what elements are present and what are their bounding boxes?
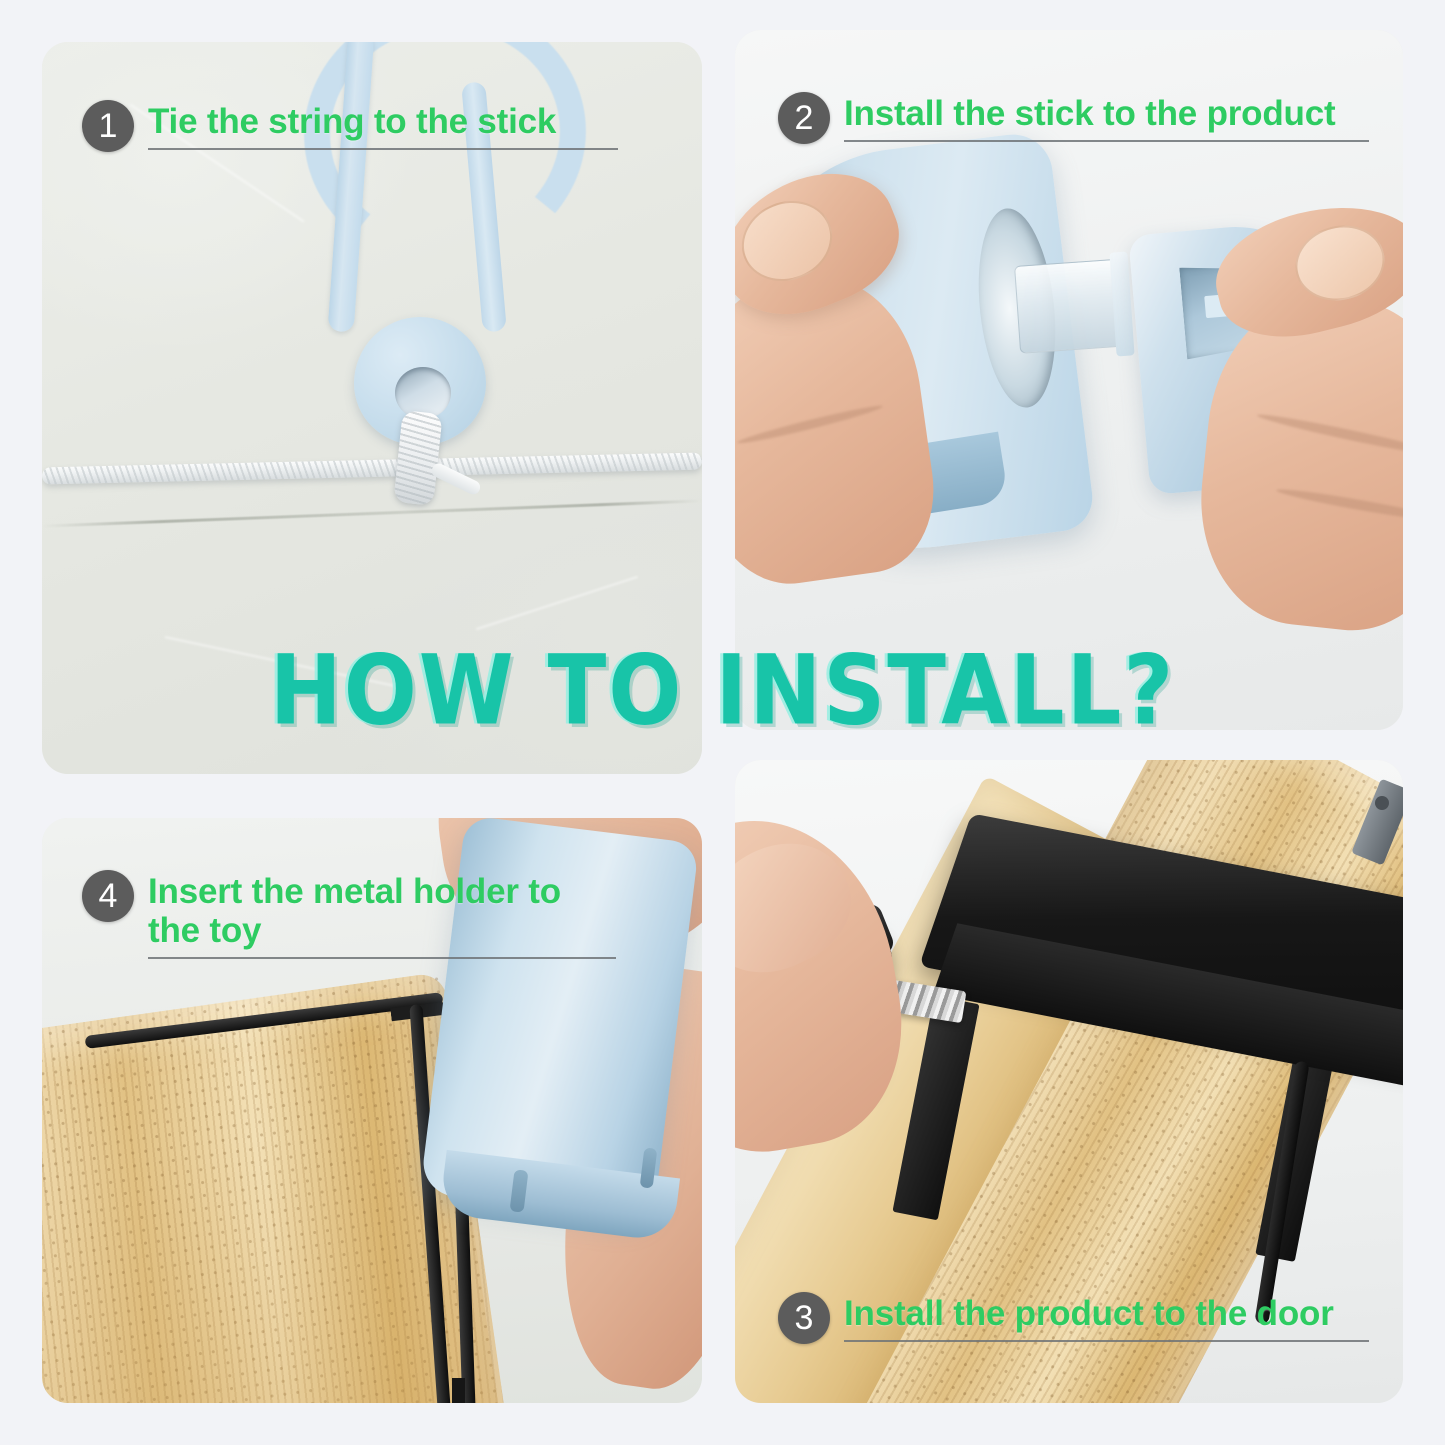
step-2-header: 2 Install the stick to the product	[778, 92, 1369, 144]
step-1-label: Tie the string to the stick	[148, 102, 618, 141]
step-1-underline	[148, 148, 618, 150]
hook-eyelet-hole	[395, 367, 451, 419]
step-4-number-badge: 4	[82, 870, 134, 922]
step-4-header: 4 Insert the metal holder to the toy	[82, 870, 616, 959]
step-3-header: 3 Install the product to the door	[778, 1292, 1369, 1344]
step-3-label: Install the product to the door	[844, 1294, 1369, 1333]
step-2-number-badge: 2	[778, 92, 830, 144]
step-4-underline	[148, 957, 616, 959]
metal-holder-prong-hook	[452, 1378, 513, 1403]
step-1-number-badge: 1	[82, 100, 134, 152]
step-2-text-wrap: Install the stick to the product	[844, 92, 1369, 142]
step-1-header: 1 Tie the string to the stick	[82, 100, 618, 152]
step-1-text-wrap: Tie the string to the stick	[148, 100, 618, 150]
step-2-label: Install the stick to the product	[844, 94, 1369, 133]
step-4-label: Insert the metal holder to the toy	[148, 872, 616, 950]
infographic-canvas: 1 Tie the string to the stick 2 Install …	[0, 0, 1445, 1445]
step-3-underline	[844, 1340, 1369, 1342]
step-4-text-wrap: Insert the metal holder to the toy	[148, 870, 616, 959]
page-title: HOW TO INSTALL?	[0, 643, 1445, 739]
step-3-text-wrap: Install the product to the door	[844, 1292, 1369, 1342]
step-3-number-badge: 3	[778, 1292, 830, 1344]
step-2-underline	[844, 140, 1369, 142]
bracket-screw-hole	[1375, 796, 1389, 810]
